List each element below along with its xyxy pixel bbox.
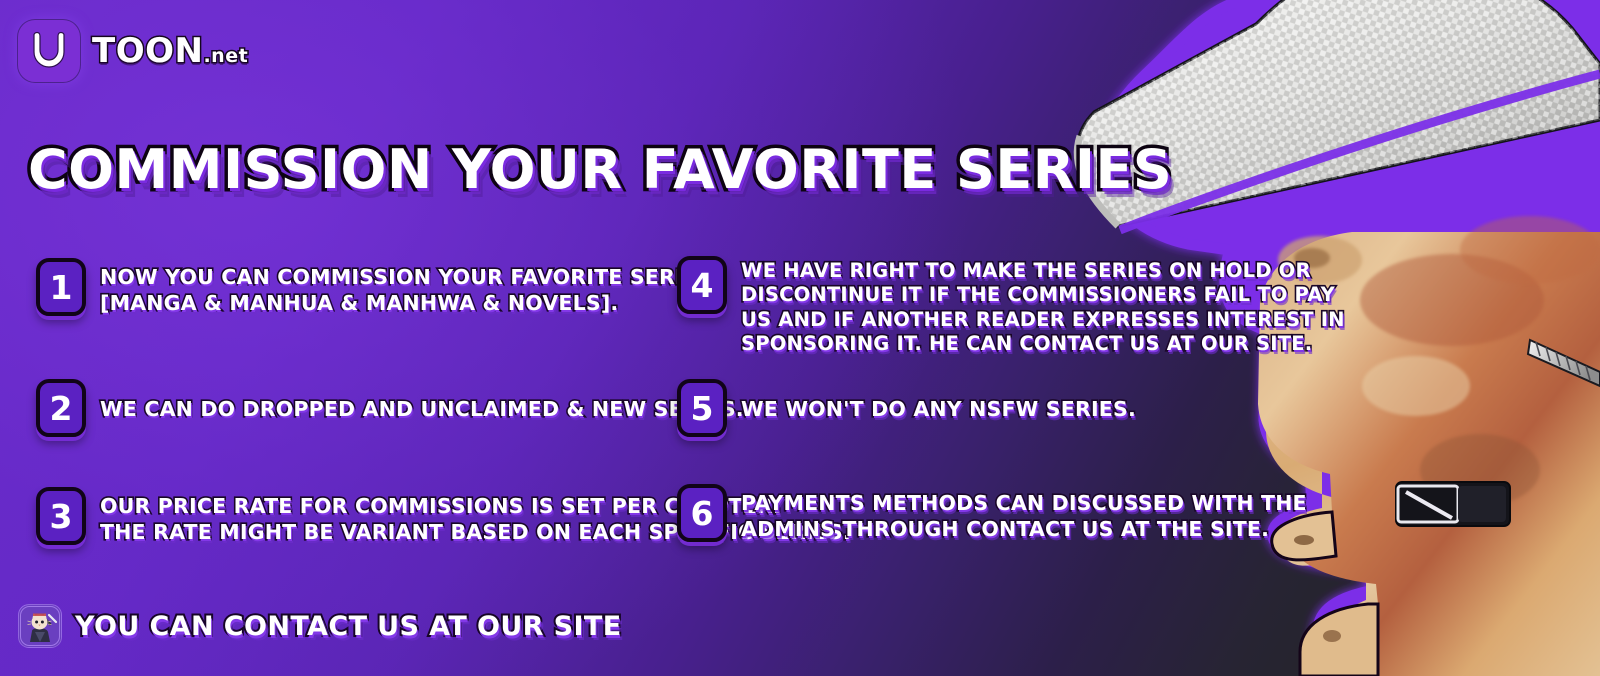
- katana-sword: [1528, 340, 1600, 386]
- point-number-badge: 6: [677, 484, 727, 542]
- point-text: NOW YOU CAN COMMISSION YOUR FAVORITE SER…: [100, 258, 712, 316]
- list-item: 4 WE HAVE RIGHT TO MAKE THE SERIES ON HO…: [677, 256, 1345, 357]
- list-item: 1 NOW YOU CAN COMMISSION YOUR FAVORITE S…: [36, 258, 712, 316]
- contact-text: YOU CAN CONTACT US AT OUR SITE: [75, 613, 622, 640]
- logo-name: TOON: [92, 31, 203, 71]
- point-text: WE HAVE RIGHT TO MAKE THE SERIES ON HOLD…: [741, 256, 1345, 357]
- points-list: 1 NOW YOU CAN COMMISSION YOUR FAVORITE S…: [0, 0, 1600, 676]
- point-number-badge: 5: [677, 379, 727, 437]
- point-text: WE WON'T DO ANY NSFW SERIES.: [741, 379, 1136, 422]
- logo-tld: .net: [203, 45, 248, 67]
- point-text: WE CAN DO DROPPED AND UNCLAIMED & NEW SE…: [100, 379, 744, 422]
- crescent-u-logo-icon: [18, 20, 80, 82]
- point-number-badge: 1: [36, 258, 86, 316]
- contact-footer[interactable]: YOU CAN CONTACT US AT OUR SITE: [18, 604, 622, 648]
- samurai-cat-avatar-icon: [18, 604, 62, 648]
- commission-banner: TOON.net COMMISSION YOUR FAVORITE SERIES…: [0, 0, 1600, 676]
- site-logo[interactable]: TOON.net: [18, 20, 248, 82]
- page-title: COMMISSION YOUR FAVORITE SERIES: [28, 143, 1172, 197]
- point-number-badge: 2: [36, 379, 86, 437]
- list-item: 2 WE CAN DO DROPPED AND UNCLAIMED & NEW …: [36, 379, 744, 437]
- point-text: PAYMENTS METHODS CAN DISCUSSED WITH THE …: [741, 484, 1307, 542]
- list-item: 6 PAYMENTS METHODS CAN DISCUSSED WITH TH…: [677, 484, 1307, 542]
- black-belt-buckle: [1396, 482, 1510, 526]
- list-item: 5 WE WON'T DO ANY NSFW SERIES.: [677, 379, 1136, 437]
- logo-wordmark: TOON.net: [92, 34, 248, 68]
- point-number-badge: 3: [36, 487, 86, 545]
- point-number-badge: 4: [677, 256, 727, 314]
